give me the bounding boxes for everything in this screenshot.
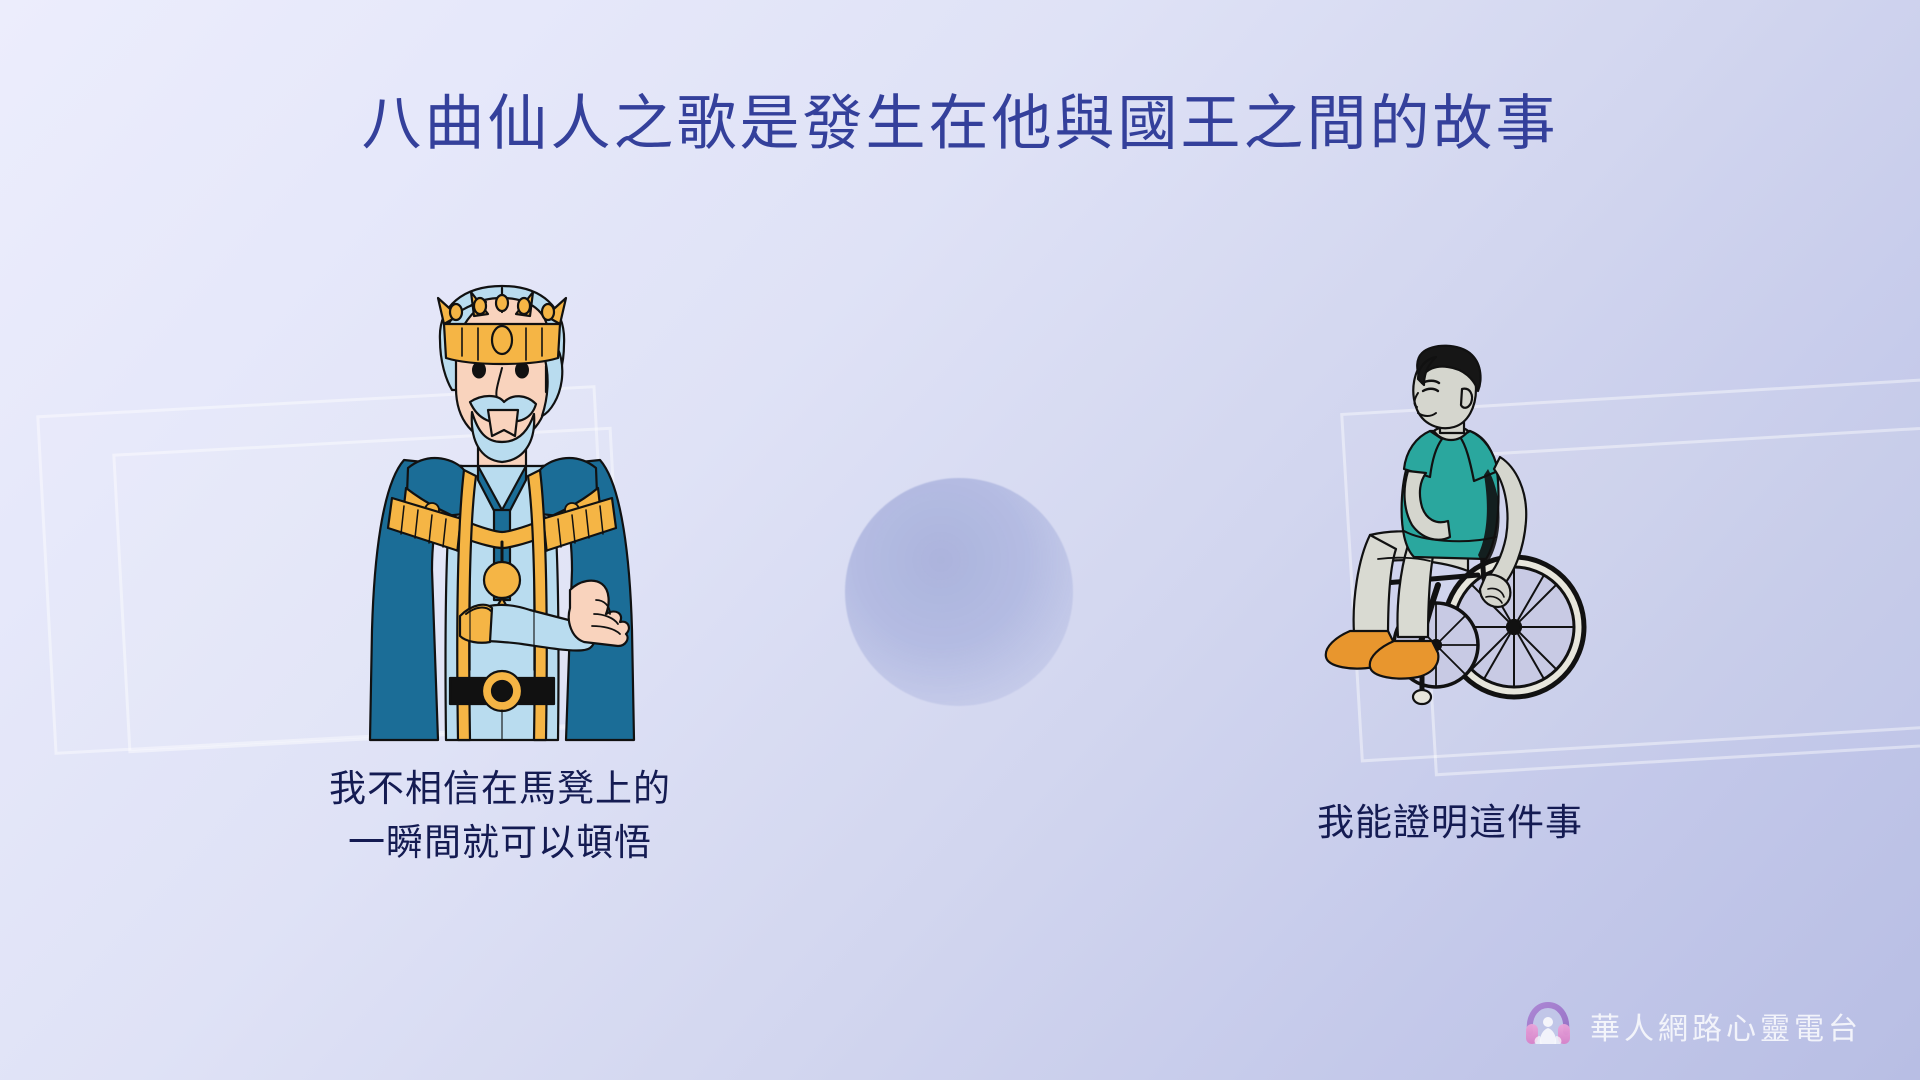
watermark: 華人網路心靈電台 [1522, 1000, 1862, 1052]
man-in-wheelchair-illustration [1318, 345, 1608, 705]
caption-king: 我不相信在馬凳上的 一瞬間就可以頓悟 [175, 762, 825, 869]
king-illustration [352, 270, 652, 740]
caption-man: 我能證明這件事 [1130, 796, 1770, 850]
caption-man-line-1: 我能證明這件事 [1130, 796, 1770, 850]
caption-king-line-1: 我不相信在馬凳上的 [175, 762, 825, 816]
slide-title: 八曲仙人之歌是發生在他與國王之間的故事 [0, 92, 1920, 155]
headphones-meditation-logo-icon [1522, 1000, 1574, 1052]
caption-king-line-2: 一瞬間就可以頓悟 [175, 816, 825, 870]
watermark-text: 華人網路心靈電台 [1590, 1004, 1862, 1048]
slide-canvas: 八曲仙人之歌是發生在他與國王之間的故事 [0, 0, 1920, 1080]
center-orb-decoration [845, 478, 1073, 706]
